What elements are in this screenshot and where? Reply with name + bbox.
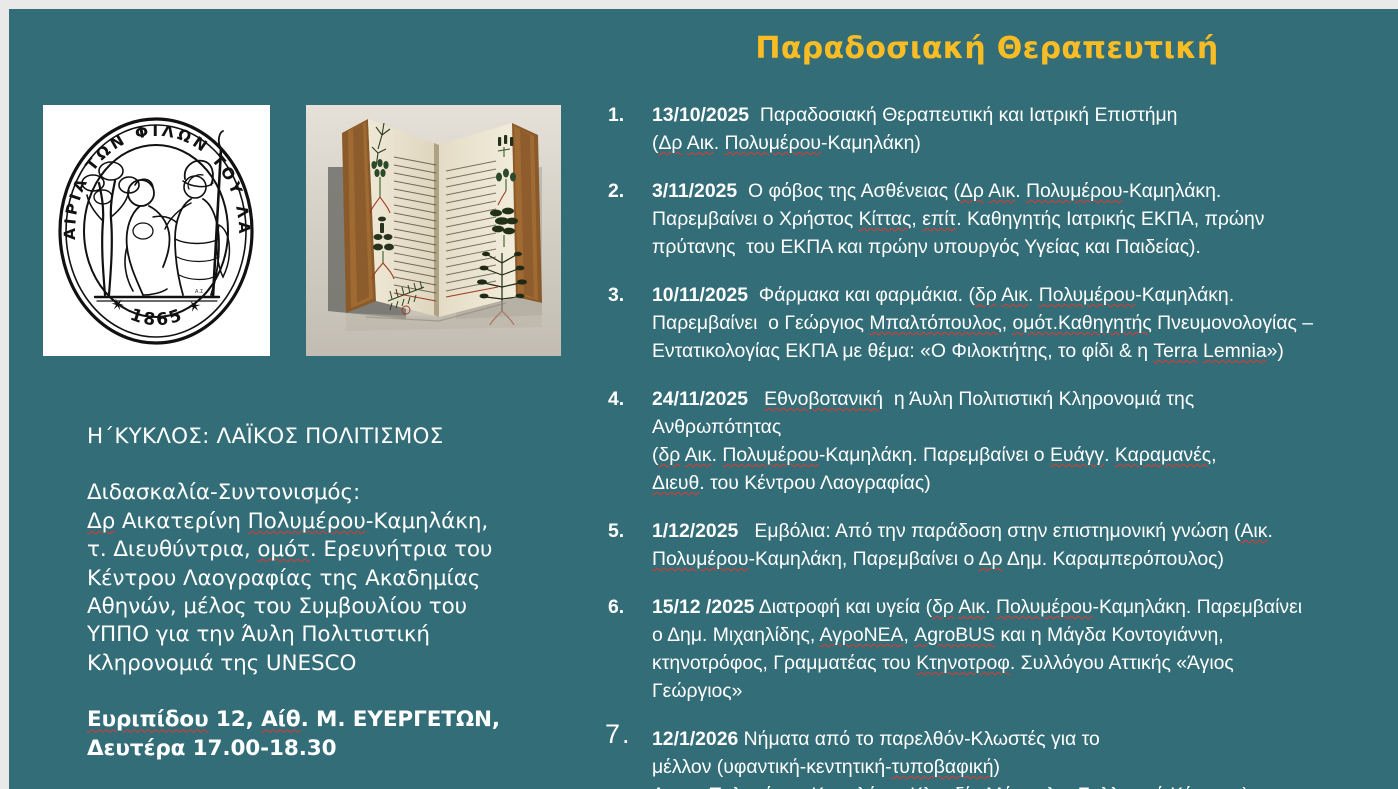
list-item-line: (Δρ Αικ. Πολυμέρου-Καμηλάκη) bbox=[652, 129, 1395, 157]
list-item: 2. 3/11/2025 Ο φόβος της Ασθένειας (Δρ Α… bbox=[600, 177, 1395, 261]
list-item-number: 5. bbox=[608, 517, 642, 545]
list-item: 7. 12/1/2026 Νήματα από το παρελθόν-Κλωσ… bbox=[600, 725, 1395, 789]
list-item-line: κτηνοτρόφος, Γραμματέας του Κτηνοτροφ. Σ… bbox=[652, 649, 1395, 677]
list-item-line: μέλλον (υφαντική-κεντητική-τυποβαφική) bbox=[652, 753, 1395, 781]
list-item-number: 2. bbox=[608, 177, 642, 205]
list-item-line: Παρεμβαίνει ο Γεώργιος Μπαλτόπουλος, ομό… bbox=[652, 309, 1395, 337]
lecture-date: 12/1/2026 bbox=[652, 728, 738, 750]
list-item-number: 6. bbox=[608, 593, 642, 621]
teacher-line-5: Κληρονομιά της UNESCO bbox=[87, 650, 577, 678]
list-item-line: 15/12 /2025 Διατροφή και υγεία (δρ Αικ. … bbox=[652, 593, 1395, 621]
lecture-date: 13/10/2025 bbox=[652, 104, 749, 126]
list-item: 3. 10/11/2025 Φάρμακα και φαρμάκια. (δρ … bbox=[600, 281, 1395, 365]
presentation-slide: ΕΤΑΙΡΙΑ ΤΩΝ ΦΙΛΩΝ ΤΟΥ ΛΑΟΥ ✶ 1865 ✶ bbox=[0, 0, 1398, 789]
list-item-line: 24/11/2025 Εθνοβοτανική η Άυλη Πολιτιστι… bbox=[652, 385, 1395, 413]
list-item: 5. 1/12/2025 Εμβόλια: Από την παράδοση σ… bbox=[600, 517, 1395, 573]
right-column: Παραδοσιακή Θεραπευτική 1. 13/10/2025 Πα… bbox=[587, 9, 1398, 789]
manuscript-book-image bbox=[306, 105, 561, 356]
society-seal-image: ΕΤΑΙΡΙΑ ΤΩΝ ΦΙΛΩΝ ΤΟΥ ΛΑΟΥ ✶ 1865 ✶ bbox=[43, 105, 270, 356]
list-item-number: 1. bbox=[608, 101, 642, 129]
list-item: 1. 13/10/2025 Παραδοσιακή Θεραπευτική κα… bbox=[600, 101, 1395, 157]
venue-line: Ευριπίδου 12, Αίθ. Μ. ΕΥΕΡΓΕΤΩΝ, bbox=[87, 706, 577, 734]
list-item-line: 10/11/2025 Φάρμακα και φαρμάκια. (δρ Αικ… bbox=[652, 281, 1395, 309]
teacher-line-4: ΥΠΠΟ για την Άυλη Πολιτιστική bbox=[87, 621, 577, 649]
list-item-body: 12/1/2026 Νήματα από το παρελθόν-Κλωστές… bbox=[652, 725, 1395, 789]
list-item-line: 13/10/2025 Παραδοσιακή Θεραπευτική και Ι… bbox=[652, 101, 1395, 129]
spacer bbox=[87, 678, 577, 706]
list-item-line: 3/11/2025 Ο φόβος της Ασθένειας (Δρ Αικ.… bbox=[652, 177, 1395, 205]
list-item-line: (δρ Αικ. Πολυμέρου-Καμηλάκη. Παρεμβαίνει… bbox=[652, 441, 1395, 469]
list-item-line: Αικατ. Πολυμέρου-Καμηλάκη- Κλαυδία Μάμμα… bbox=[652, 781, 1395, 789]
list-item-number: 4. bbox=[608, 385, 642, 413]
list-item-number: 7. bbox=[605, 720, 639, 748]
lecture-schedule-list: 1. 13/10/2025 Παραδοσιακή Θεραπευτική κα… bbox=[600, 101, 1395, 789]
list-item-body: 10/11/2025 Φάρμακα και φαρμάκια. (δρ Αικ… bbox=[652, 281, 1395, 365]
teacher-line-0: Δρ Αικατερίνη Πολυμέρου-Καμηλάκη, bbox=[87, 508, 577, 536]
list-item-line: 12/1/2026 Νήματα από το παρελθόν-Κλωστές… bbox=[652, 725, 1395, 753]
list-item-line: Πολυμέρου-Καμηλάκη, Παρεμβαίνει ο Δρ Δημ… bbox=[652, 545, 1395, 573]
list-item-number: 3. bbox=[608, 281, 642, 309]
lecture-date: 1/12/2025 bbox=[652, 520, 738, 542]
list-item-line: Παρεμβαίνει ο Χρήστος Κίττας, επίτ. Καθη… bbox=[652, 205, 1395, 233]
list-item-line: Εντατικολογίας ΕΚΠΑ με θέμα: «Ο Φιλοκτήτ… bbox=[652, 337, 1395, 365]
lecture-date: 24/11/2025 bbox=[652, 388, 748, 410]
lecture-date: 15/12 /2025 bbox=[652, 596, 754, 618]
slide-canvas: ΕΤΑΙΡΙΑ ΤΩΝ ΦΙΛΩΝ ΤΟΥ ΛΑΟΥ ✶ 1865 ✶ bbox=[9, 9, 1398, 789]
teaching-label: Διδασκαλία-Συντονισμός: bbox=[87, 479, 577, 507]
list-item-line: Ανθρωπότητας bbox=[652, 413, 1395, 441]
list-item-line: 1/12/2025 Εμβόλια: Από την παράδοση στην… bbox=[652, 517, 1395, 545]
cycle-title: Η΄ΚΥΚΛΟΣ: ΛΑΪΚΟΣ ΠΟΛΙΤΙΣΜΟΣ bbox=[87, 423, 577, 451]
lecture-date: 3/11/2025 bbox=[652, 180, 737, 202]
svg-text:Α.Σ: Α.Σ bbox=[195, 289, 203, 295]
list-item-body: 15/12 /2025 Διατροφή και υγεία (δρ Αικ. … bbox=[652, 593, 1395, 705]
lecture-date: 10/11/2025 bbox=[652, 284, 748, 306]
list-item: 4. 24/11/2025 Εθνοβοτανική η Άυλη Πολιτι… bbox=[600, 385, 1395, 497]
teacher-line-3: Αθηνών, μέλος του Συμβουλίου του bbox=[87, 593, 577, 621]
list-item-body: 1/12/2025 Εμβόλια: Από την παράδοση στην… bbox=[652, 517, 1395, 573]
manuscript-book-graphic bbox=[306, 105, 561, 356]
list-item-line: πρύτανης του ΕΚΠΑ και πρώην υπουργός Υγε… bbox=[652, 233, 1395, 261]
list-item: 6. 15/12 /2025 Διατροφή και υγεία (δρ Αι… bbox=[600, 593, 1395, 705]
list-item-line: Γεώργιος» bbox=[652, 677, 1395, 705]
list-item-body: 3/11/2025 Ο φόβος της Ασθένειας (Δρ Αικ.… bbox=[652, 177, 1395, 261]
left-column: ΕΤΑΙΡΙΑ ΤΩΝ ΦΙΛΩΝ ΤΟΥ ΛΑΟΥ ✶ 1865 ✶ bbox=[9, 9, 587, 789]
list-item-body: 13/10/2025 Παραδοσιακή Θεραπευτική και Ι… bbox=[652, 101, 1395, 157]
list-item-line: ο Δημ. Μιχαηλίδης, ΑγροΝΕΑ, AgroBUS και … bbox=[652, 621, 1395, 649]
page-title: Παραδοσιακή Θεραπευτική bbox=[587, 31, 1387, 66]
schedule-line: Δευτέρα 17.00-18.30 bbox=[87, 735, 577, 763]
list-item-body: 24/11/2025 Εθνοβοτανική η Άυλη Πολιτιστι… bbox=[652, 385, 1395, 497]
list-item-line: Διευθ. του Κέντρου Λαογραφίας) bbox=[652, 469, 1395, 497]
teacher-line-1: τ. Διευθύντρια, ομότ. Ερευνήτρια του bbox=[87, 536, 577, 564]
teacher-line-2: Κέντρου Λαογραφίας της Ακαδημίας bbox=[87, 565, 577, 593]
left-description-block: Η΄ΚΥΚΛΟΣ: ΛΑΪΚΟΣ ΠΟΛΙΤΙΣΜΟΣ Διδασκαλία-Σ… bbox=[87, 423, 577, 763]
society-seal-graphic: ΕΤΑΙΡΙΑ ΤΩΝ ΦΙΛΩΝ ΤΟΥ ΛΑΟΥ ✶ 1865 ✶ bbox=[43, 105, 270, 356]
